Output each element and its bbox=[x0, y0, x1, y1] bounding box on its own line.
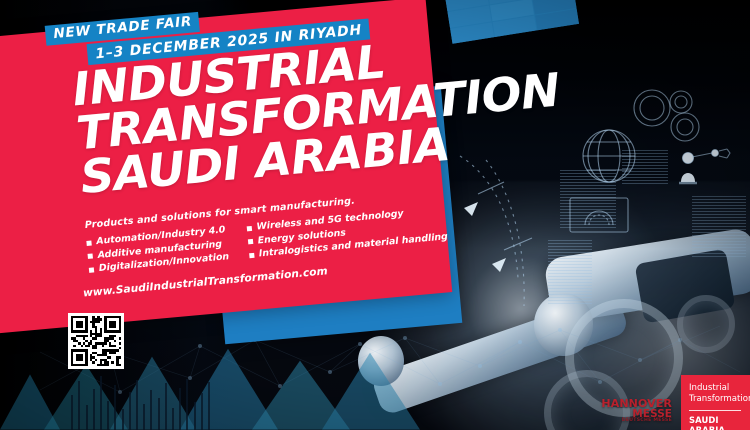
poster-canvas: NEW TRADE FAIR 1–3 DECEMBER 2025 IN RIYA… bbox=[0, 0, 750, 430]
topic-column-left: Automation/Industry 4.0 Additive manufac… bbox=[86, 225, 230, 275]
bullet-square-icon bbox=[246, 225, 251, 230]
bullet-square-icon bbox=[89, 267, 94, 272]
bullet-square-icon bbox=[88, 254, 93, 259]
industrial-transformation-logo: Industrial Transformation SAUDI ARABIA bbox=[681, 375, 750, 430]
topic-column-right: Wireless and 5G technology Energy soluti… bbox=[246, 205, 448, 261]
qr-code[interactable] bbox=[68, 313, 124, 369]
hannover-line-3: DEUTSCHE MESSE bbox=[600, 419, 672, 424]
bullet-square-icon bbox=[248, 239, 253, 244]
hannover-messe-logo: HANNOVER MESSE DEUTSCHE MESSE bbox=[600, 398, 672, 424]
it-logo-line-1: Industrial bbox=[689, 383, 750, 394]
bullet-square-icon bbox=[86, 240, 91, 245]
it-logo-line-3: SAUDI ARABIA bbox=[689, 415, 750, 430]
qr-code-modules bbox=[71, 316, 121, 366]
bullet-square-icon bbox=[249, 252, 254, 257]
it-logo-divider bbox=[689, 410, 741, 411]
it-logo-line-2: Transformation bbox=[689, 394, 750, 405]
